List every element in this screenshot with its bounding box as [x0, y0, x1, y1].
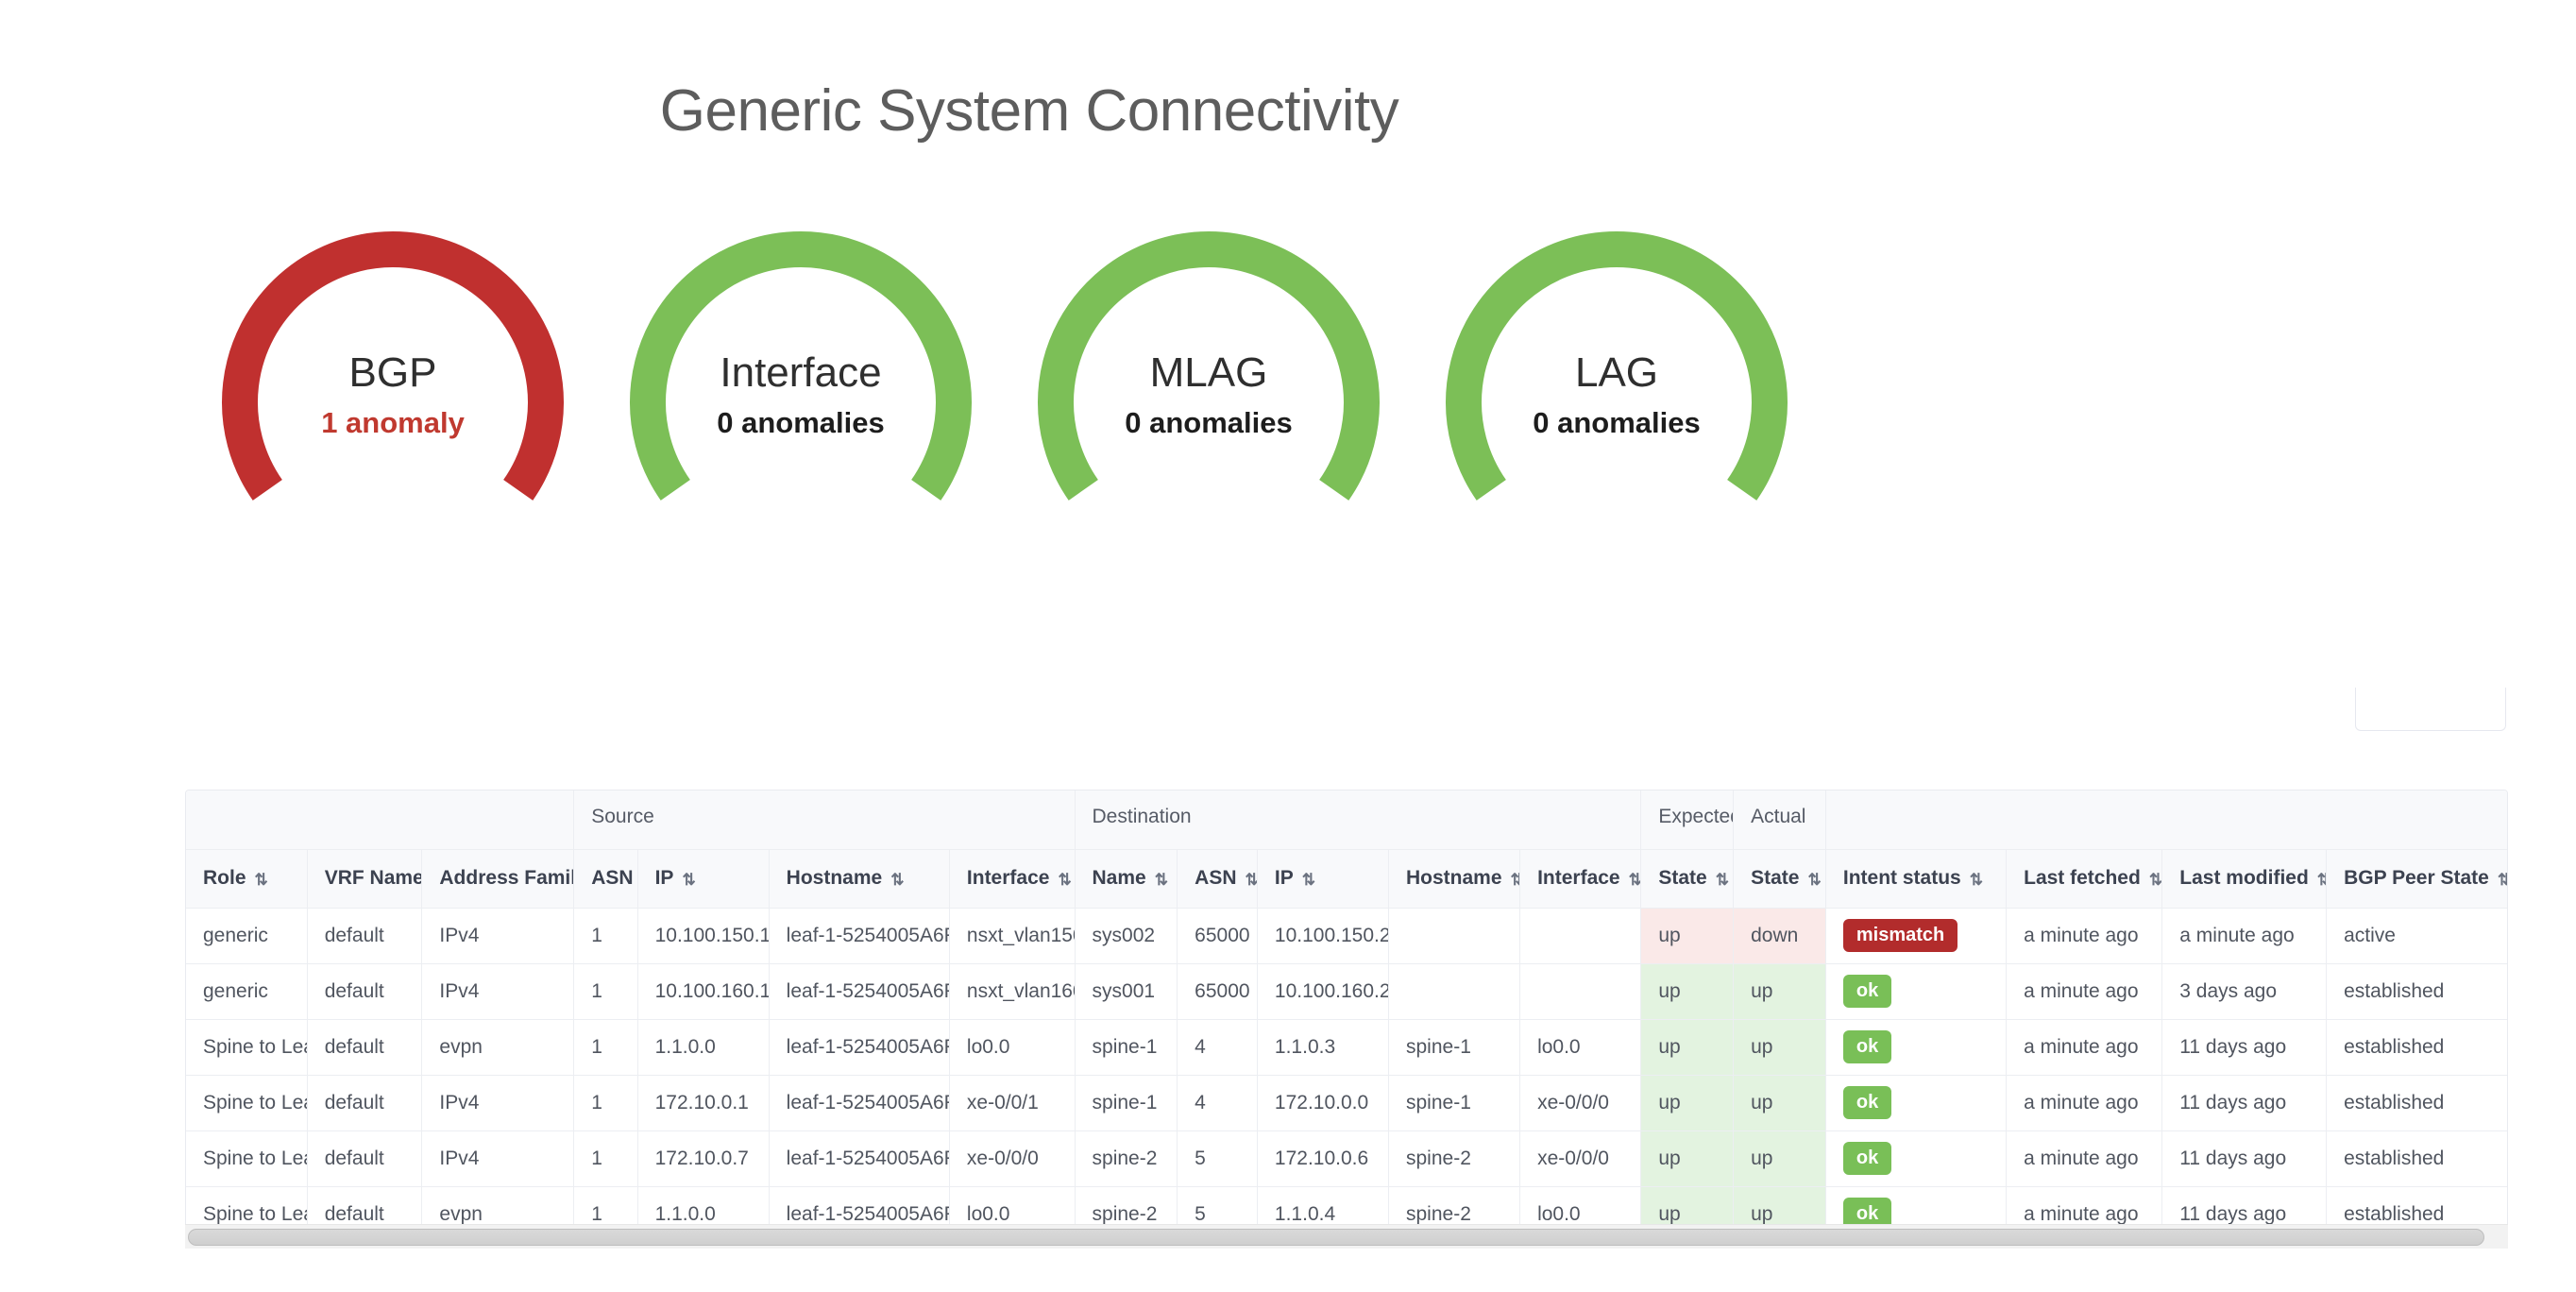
cell-expected-state: up: [1641, 908, 1734, 963]
column-header-label: State: [1751, 867, 1799, 889]
connectivity-table: SourceDestinationExpectedActual Role⇅VRF…: [186, 790, 2507, 1242]
column-header-label: Intent status: [1843, 867, 1961, 889]
status-badge: ok: [1843, 1086, 1891, 1119]
table-head: SourceDestinationExpectedActual Role⇅VRF…: [186, 790, 2507, 908]
table-row[interactable]: Spine to Leafdefaultevpn11.1.0.0leaf-1-5…: [186, 1019, 2507, 1075]
cell-role: Spine to Leaf: [186, 1130, 307, 1186]
cell-src-asn: 1: [574, 1019, 637, 1075]
column-header-label: Last modified: [2179, 867, 2309, 889]
sort-arrows-icon[interactable]: ⇅: [1058, 871, 1069, 890]
column-header-name[interactable]: Name⇅: [1075, 849, 1178, 908]
cell-src-asn: 1: [574, 1130, 637, 1186]
cell-dst-interface: [1520, 908, 1641, 963]
column-header-label: Interface: [967, 867, 1050, 889]
column-header-last-modified[interactable]: Last modified⇅: [2162, 849, 2327, 908]
sort-arrows-icon[interactable]: ⇅: [1511, 871, 1520, 890]
cell-last-fetched: a minute ago: [2007, 1075, 2162, 1130]
gauge-name: Interface: [614, 351, 988, 395]
cell-address-family: IPv4: [422, 1075, 574, 1130]
cell-dst-ip: 1.1.0.3: [1257, 1019, 1388, 1075]
scrollbar-thumb[interactable]: [188, 1229, 2484, 1246]
column-header-label: IP: [655, 867, 674, 889]
cell-dst-ip: 10.100.150.2: [1257, 908, 1388, 963]
column-header-row: Role⇅VRF Name⇅Address Family⇅ASN⇅IP⇅Host…: [186, 849, 2507, 908]
anomaly-gauge-row: BGP1 anomalyInterface0 anomaliesMLAG0 an…: [206, 215, 1804, 510]
column-header-intent-status[interactable]: Intent status⇅: [1825, 849, 2006, 908]
cell-src-ip: 172.10.0.7: [637, 1130, 769, 1186]
cell-src-ip: 10.100.160.1: [637, 963, 769, 1019]
group-header-source: Source: [574, 790, 1075, 849]
cell-intent-status: ok: [1825, 963, 2006, 1019]
cell-dst-interface: lo0.0: [1520, 1019, 1641, 1075]
cell-dst-hostname: spine-2: [1389, 1130, 1520, 1186]
cell-src-ip: 172.10.0.1: [637, 1075, 769, 1130]
column-header-interface[interactable]: Interface⇅: [1520, 849, 1641, 908]
sort-arrows-icon[interactable]: ⇅: [1155, 871, 1166, 890]
cell-last-modified: 11 days ago: [2162, 1075, 2327, 1130]
cell-dst-asn: 5: [1178, 1130, 1258, 1186]
cell-dst-hostname: [1389, 908, 1520, 963]
cell-dst-ip: 172.10.0.0: [1257, 1075, 1388, 1130]
column-header-label: State: [1658, 867, 1706, 889]
cell-expected-state: up: [1641, 1075, 1734, 1130]
cell-intent-status: ok: [1825, 1075, 2006, 1130]
cell-dst-interface: xe-0/0/0: [1520, 1130, 1641, 1186]
column-header-state[interactable]: State⇅: [1734, 849, 1826, 908]
gauge-name: LAG: [1430, 351, 1804, 395]
cell-src-hostname: leaf-1-5254005A6FF0: [769, 1130, 949, 1186]
cell-dst-asn: 65000: [1178, 908, 1258, 963]
sort-arrows-icon[interactable]: ⇅: [890, 871, 902, 890]
cell-src-hostname: leaf-1-5254005A6FF0: [769, 963, 949, 1019]
cell-dst-hostname: spine-1: [1389, 1075, 1520, 1130]
group-header-row: SourceDestinationExpectedActual: [186, 790, 2507, 849]
gauge-bgp[interactable]: BGP1 anomaly: [206, 215, 580, 510]
cell-last-modified: 3 days ago: [2162, 963, 2327, 1019]
status-badge: ok: [1843, 1030, 1891, 1063]
sort-arrows-icon[interactable]: ⇅: [2149, 871, 2161, 890]
cell-src-interface: lo0.0: [949, 1019, 1075, 1075]
table-row[interactable]: Spine to LeafdefaultIPv41172.10.0.7leaf-…: [186, 1130, 2507, 1186]
group-header-expected: Expected: [1641, 790, 1734, 849]
cell-address-family: evpn: [422, 1019, 574, 1075]
gauge-anomaly-count: 1 anomaly: [206, 406, 580, 440]
sort-arrows-icon[interactable]: ⇅: [1716, 871, 1727, 890]
cell-dst-name: sys001: [1075, 963, 1178, 1019]
cell-role: generic: [186, 908, 307, 963]
page-title: Generic System Connectivity: [0, 77, 2059, 144]
column-header-role[interactable]: Role⇅: [186, 849, 307, 908]
cell-src-asn: 1: [574, 963, 637, 1019]
column-header-label: IP: [1275, 867, 1294, 889]
sort-arrows-icon[interactable]: ⇅: [2498, 871, 2507, 890]
cell-dst-hostname: spine-1: [1389, 1019, 1520, 1075]
column-header-hostname[interactable]: Hostname⇅: [1389, 849, 1520, 908]
sort-arrows-icon[interactable]: ⇅: [1302, 871, 1313, 890]
cell-role: generic: [186, 963, 307, 1019]
column-header-label: Interface: [1537, 867, 1620, 889]
gauge-anomaly-count: 0 anomalies: [1430, 406, 1804, 440]
cell-bgp-peer-state: active: [2327, 908, 2507, 963]
cell-src-ip: 1.1.0.0: [637, 1019, 769, 1075]
cell-src-interface: xe-0/0/0: [949, 1130, 1075, 1186]
sort-arrows-icon[interactable]: ⇅: [1807, 871, 1819, 890]
connectivity-table-container: SourceDestinationExpectedActual Role⇅VRF…: [185, 790, 2508, 1243]
cell-last-modified: a minute ago: [2162, 908, 2327, 963]
cell-intent-status: mismatch: [1825, 908, 2006, 963]
cell-src-asn: 1: [574, 1075, 637, 1130]
column-header-label: ASN: [591, 867, 633, 889]
cell-expected-state: up: [1641, 963, 1734, 1019]
column-header-address-family[interactable]: Address Family⇅: [422, 849, 574, 908]
column-header-label: BGP Peer State: [2344, 867, 2489, 889]
sort-arrows-icon[interactable]: ⇅: [1629, 871, 1640, 890]
column-header-label: Name: [1093, 867, 1146, 889]
cell-last-modified: 11 days ago: [2162, 1130, 2327, 1186]
cell-dst-asn: 4: [1178, 1019, 1258, 1075]
cell-bgp-peer-state: established: [2327, 963, 2507, 1019]
cell-actual-state: up: [1734, 1075, 1826, 1130]
cell-intent-status: ok: [1825, 1019, 2006, 1075]
dashboard-page: Generic System Connectivity BGP1 anomaly…: [0, 0, 2576, 1292]
column-header-asn[interactable]: ASN⇅: [574, 849, 637, 908]
cell-actual-state: up: [1734, 1130, 1826, 1186]
cell-dst-hostname: [1389, 963, 1520, 1019]
column-header-label: Hostname: [1406, 867, 1502, 889]
sort-arrows-icon[interactable]: ⇅: [1970, 871, 1981, 890]
cell-vrf-name: default: [307, 908, 422, 963]
cell-address-family: IPv4: [422, 1130, 574, 1186]
cell-src-hostname: leaf-1-5254005A6FF0: [769, 1075, 949, 1130]
cell-dst-interface: xe-0/0/0: [1520, 1075, 1641, 1130]
cell-bgp-peer-state: established: [2327, 1130, 2507, 1186]
column-header-state[interactable]: State⇅: [1641, 849, 1734, 908]
cell-actual-state: up: [1734, 1019, 1826, 1075]
cell-expected-state: up: [1641, 1130, 1734, 1186]
group-header-blank: [1825, 790, 2507, 849]
cell-src-interface: nsxt_vlan150: [949, 908, 1075, 963]
horizontal-scrollbar[interactable]: [185, 1224, 2508, 1249]
cell-role: Spine to Leaf: [186, 1075, 307, 1130]
column-header-label: Hostname: [787, 867, 883, 889]
cell-src-interface: nsxt_vlan160: [949, 963, 1075, 1019]
table-body: genericdefaultIPv4110.100.150.1leaf-1-52…: [186, 908, 2507, 1242]
column-header-label: Last fetched: [2024, 867, 2141, 889]
cell-src-ip: 10.100.150.1: [637, 908, 769, 963]
cell-role: Spine to Leaf: [186, 1019, 307, 1075]
column-header-interface[interactable]: Interface⇅: [949, 849, 1075, 908]
table-row[interactable]: Spine to LeafdefaultIPv41172.10.0.1leaf-…: [186, 1075, 2507, 1130]
gauge-name: BGP: [206, 351, 580, 395]
gauge-anomaly-count: 0 anomalies: [1022, 406, 1396, 440]
cell-dst-name: spine-1: [1075, 1019, 1178, 1075]
cell-last-fetched: a minute ago: [2007, 1019, 2162, 1075]
cell-vrf-name: default: [307, 963, 422, 1019]
cell-bgp-peer-state: established: [2327, 1019, 2507, 1075]
cell-last-fetched: a minute ago: [2007, 963, 2162, 1019]
status-badge: ok: [1843, 975, 1891, 1008]
cell-vrf-name: default: [307, 1075, 422, 1130]
cell-src-hostname: leaf-1-5254005A6FF0: [769, 1019, 949, 1075]
group-header-actual: Actual: [1734, 790, 1826, 849]
cell-last-modified: 11 days ago: [2162, 1019, 2327, 1075]
cell-src-interface: xe-0/0/1: [949, 1075, 1075, 1130]
cell-address-family: IPv4: [422, 908, 574, 963]
sort-arrows-icon[interactable]: ⇅: [2317, 871, 2327, 890]
clipped-toolbar-control[interactable]: [2355, 688, 2506, 731]
cell-actual-state: down: [1734, 908, 1826, 963]
cell-vrf-name: default: [307, 1019, 422, 1075]
cell-dst-name: spine-2: [1075, 1130, 1178, 1186]
cell-address-family: IPv4: [422, 963, 574, 1019]
column-header-ip[interactable]: IP⇅: [637, 849, 769, 908]
group-header-blank: [186, 790, 574, 849]
status-badge: mismatch: [1843, 919, 1957, 952]
table-row[interactable]: genericdefaultIPv4110.100.150.1leaf-1-52…: [186, 908, 2507, 963]
cell-bgp-peer-state: established: [2327, 1075, 2507, 1130]
gauge-lag[interactable]: LAG0 anomalies: [1430, 215, 1804, 510]
cell-last-fetched: a minute ago: [2007, 908, 2162, 963]
gauge-interface[interactable]: Interface0 anomalies: [614, 215, 988, 510]
group-header-destination: Destination: [1075, 790, 1641, 849]
cell-dst-asn: 4: [1178, 1075, 1258, 1130]
cell-actual-state: up: [1734, 963, 1826, 1019]
sort-arrows-icon[interactable]: ⇅: [1246, 871, 1257, 890]
cell-expected-state: up: [1641, 1019, 1734, 1075]
cell-src-asn: 1: [574, 908, 637, 963]
column-header-last-fetched[interactable]: Last fetched⇅: [2007, 849, 2162, 908]
cell-dst-name: sys002: [1075, 908, 1178, 963]
sort-arrows-icon[interactable]: ⇅: [255, 871, 266, 890]
column-header-asn[interactable]: ASN⇅: [1178, 849, 1258, 908]
cell-vrf-name: default: [307, 1130, 422, 1186]
column-header-hostname[interactable]: Hostname⇅: [769, 849, 949, 908]
column-header-label: VRF Name: [325, 867, 422, 889]
gauge-mlag[interactable]: MLAG0 anomalies: [1022, 215, 1396, 510]
status-badge: ok: [1843, 1142, 1891, 1175]
cell-dst-interface: [1520, 963, 1641, 1019]
cell-dst-name: spine-1: [1075, 1075, 1178, 1130]
column-header-label: Role: [203, 867, 246, 889]
cell-dst-ip: 10.100.160.2: [1257, 963, 1388, 1019]
cell-intent-status: ok: [1825, 1130, 2006, 1186]
cell-dst-ip: 172.10.0.6: [1257, 1130, 1388, 1186]
column-header-bgp-peer-state[interactable]: BGP Peer State⇅: [2327, 849, 2507, 908]
cell-dst-asn: 65000: [1178, 963, 1258, 1019]
table-row[interactable]: genericdefaultIPv4110.100.160.1leaf-1-52…: [186, 963, 2507, 1019]
column-header-vrf-name[interactable]: VRF Name⇅: [307, 849, 422, 908]
column-header-label: ASN: [1195, 867, 1236, 889]
cell-last-fetched: a minute ago: [2007, 1130, 2162, 1186]
sort-arrows-icon[interactable]: ⇅: [682, 871, 693, 890]
column-header-label: Address Family: [439, 867, 573, 889]
column-header-ip[interactable]: IP⇅: [1257, 849, 1388, 908]
gauge-anomaly-count: 0 anomalies: [614, 406, 988, 440]
gauge-name: MLAG: [1022, 351, 1396, 395]
cell-src-hostname: leaf-1-5254005A6FF0: [769, 908, 949, 963]
